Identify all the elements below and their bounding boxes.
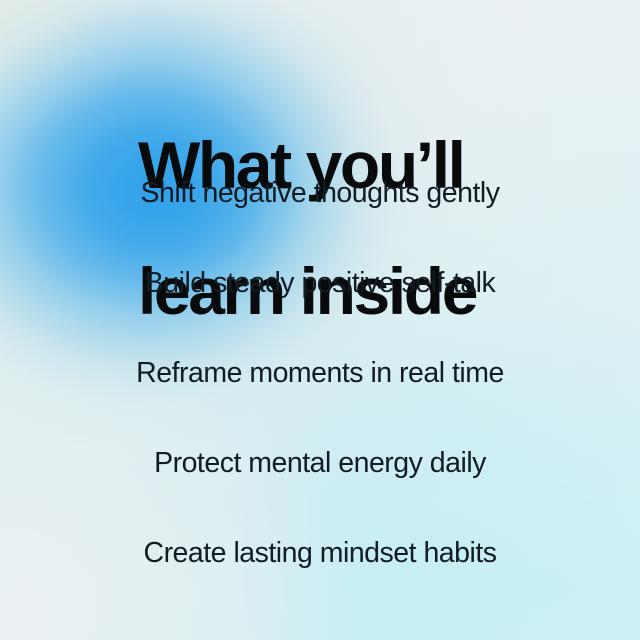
list-item: Reframe moments in real time [46,356,594,446]
list-item: Create lasting mindset habits [46,536,594,572]
poster-canvas: What you’ll learn inside Shift negative … [0,0,640,640]
list-item: Build steady positive self-talk [46,266,594,356]
poster-content: What you’ll learn inside Shift negative … [0,0,640,640]
list-item: Shift negative thoughts gently [46,176,594,266]
benefits-list: Shift negative thoughts gently Build ste… [0,176,640,572]
list-item: Protect mental energy daily [46,446,594,536]
